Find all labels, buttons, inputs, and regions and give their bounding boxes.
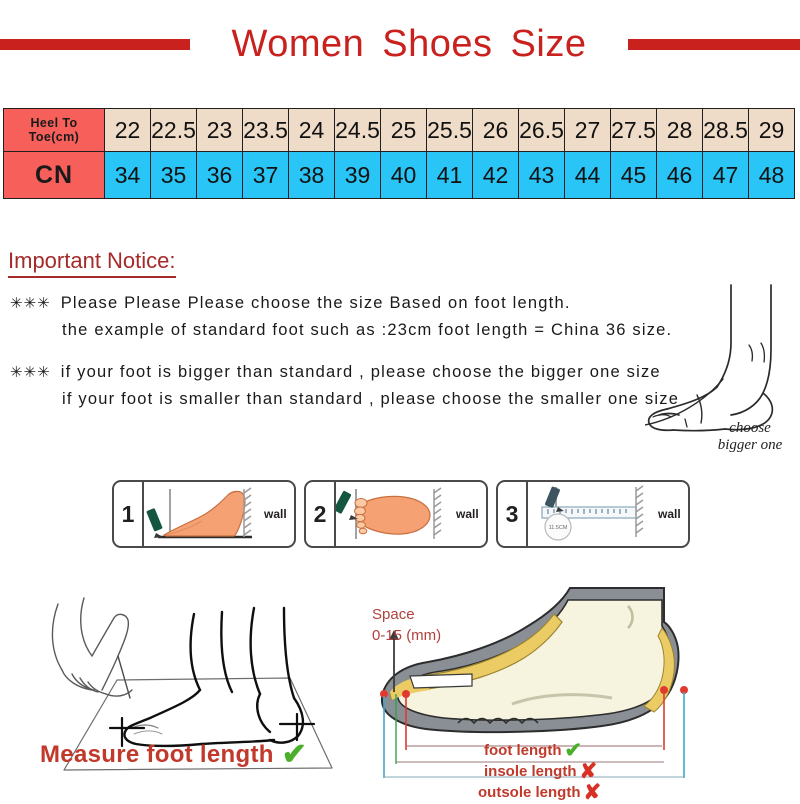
cross-icon: ✘ <box>580 761 598 782</box>
cm-cell: 26.5 <box>519 109 565 152</box>
title-rule-left <box>0 39 190 50</box>
cm-cell: 26 <box>473 109 519 152</box>
step-illustration-ruler: 11.5CM wall <box>528 482 687 546</box>
asterisk-marker: ✳✳✳ <box>10 364 61 381</box>
cn-cell: 42 <box>473 152 519 199</box>
legend-row-foot-length: foot length ✔ <box>478 740 601 761</box>
cn-cell: 43 <box>519 152 565 199</box>
title-word-3: Size <box>502 23 596 65</box>
space-label-line1: Space <box>372 604 441 625</box>
check-icon: ✔ <box>282 740 307 770</box>
notice-group-1: ✳✳✳Please Please Please choose the size … <box>10 290 690 343</box>
cn-cell: 46 <box>657 152 703 199</box>
check-icon: ✔ <box>564 740 582 761</box>
legend-label: insole length <box>484 762 577 781</box>
cm-cell: 28 <box>657 109 703 152</box>
important-notice-heading: Important Notice: <box>8 248 176 278</box>
table-row-cn: CN 34 35 36 37 38 39 40 41 42 43 44 45 4… <box>4 152 795 199</box>
choose-bigger-one-caption: choose bigger one <box>690 420 800 454</box>
notice-line: ✳✳✳if your foot is bigger than standard … <box>10 359 690 386</box>
cn-cell: 44 <box>565 152 611 199</box>
measure-steps-strip: 1 <box>112 480 690 548</box>
legend-label: outsole length <box>478 783 581 802</box>
cm-cell: 25 <box>381 109 427 152</box>
cn-cell: 40 <box>381 152 427 199</box>
row-header-cn: CN <box>4 152 105 199</box>
page-title-banner: WomenShoesSize <box>0 18 800 70</box>
title-word-1: Women <box>223 23 374 65</box>
space-dimension-label: Space 0-15 (mm) <box>372 604 441 646</box>
notice-line: the example of standard foot such as :23… <box>10 317 690 343</box>
step-number: 1 <box>114 482 144 546</box>
cn-cell: 37 <box>243 152 289 199</box>
cn-cell: 48 <box>749 152 795 199</box>
cn-cell: 35 <box>151 152 197 199</box>
title-rule-right <box>628 39 800 50</box>
wall-label: wall <box>454 507 485 521</box>
cn-cell: 47 <box>703 152 749 199</box>
step-number: 3 <box>498 482 528 546</box>
row-header-heel-to-toe: Heel To Toe(cm) <box>4 109 105 152</box>
cn-cell: 34 <box>105 152 151 199</box>
measure-foot-length-caption: Measure foot length ✔ <box>40 740 307 770</box>
space-label-line2: 0-15 (mm) <box>372 625 441 646</box>
step-illustration-side-view: wall <box>144 482 293 546</box>
cn-cell: 38 <box>289 152 335 199</box>
wall-label: wall <box>656 507 687 521</box>
cm-cell: 22.5 <box>151 109 197 152</box>
cn-cell: 36 <box>197 152 243 199</box>
notice-line: ✳✳✳Please Please Please choose the size … <box>10 290 690 317</box>
step-number: 2 <box>306 482 336 546</box>
length-legend: foot length ✔ insole length ✘ outsole le… <box>478 740 601 803</box>
cm-cell: 22 <box>105 109 151 152</box>
page-title: WomenShoesSize <box>190 25 628 63</box>
cm-cell: 29 <box>749 109 795 152</box>
notice-line: if your foot is smaller than standard , … <box>10 386 690 412</box>
step-card-3: 3 <box>496 480 690 548</box>
title-word-2: Shoes <box>373 23 501 65</box>
measure-caption-text: Measure foot length <box>40 741 274 769</box>
cm-cell: 27.5 <box>611 109 657 152</box>
cm-cell: 24.5 <box>335 109 381 152</box>
step-card-1: 1 <box>112 480 296 548</box>
size-chart-table: Heel To Toe(cm) 22 22.5 23 23.5 24 24.5 … <box>3 108 795 199</box>
cm-cell: 28.5 <box>703 109 749 152</box>
notice-line-text: if your foot is bigger than standard , p… <box>61 363 661 381</box>
notice-body: ✳✳✳Please Please Please choose the size … <box>10 290 690 428</box>
choose-caption-line2: bigger one <box>690 437 800 454</box>
notice-line-text: Please Please Please choose the size Bas… <box>61 294 571 312</box>
wall-label: wall <box>262 507 293 521</box>
cm-cell: 25.5 <box>427 109 473 152</box>
cm-cell: 23 <box>197 109 243 152</box>
ruler-measure-badge: 11.5CM <box>549 525 568 531</box>
choose-caption-line1: choose <box>690 420 800 437</box>
table-row-heel-to-toe: Heel To Toe(cm) 22 22.5 23 23.5 24 24.5 … <box>4 109 795 152</box>
notice-group-2: ✳✳✳if your foot is bigger than standard … <box>10 359 690 412</box>
cn-cell: 41 <box>427 152 473 199</box>
cm-cell: 23.5 <box>243 109 289 152</box>
cm-cell: 27 <box>565 109 611 152</box>
legend-row-insole-length: insole length ✘ <box>478 761 601 782</box>
step-illustration-top-view: wall <box>336 482 485 546</box>
asterisk-marker: ✳✳✳ <box>10 295 61 312</box>
cn-cell: 39 <box>335 152 381 199</box>
step-card-2: 2 <box>304 480 488 548</box>
cn-cell: 45 <box>611 152 657 199</box>
cm-cell: 24 <box>289 109 335 152</box>
legend-label: foot length <box>484 741 561 760</box>
